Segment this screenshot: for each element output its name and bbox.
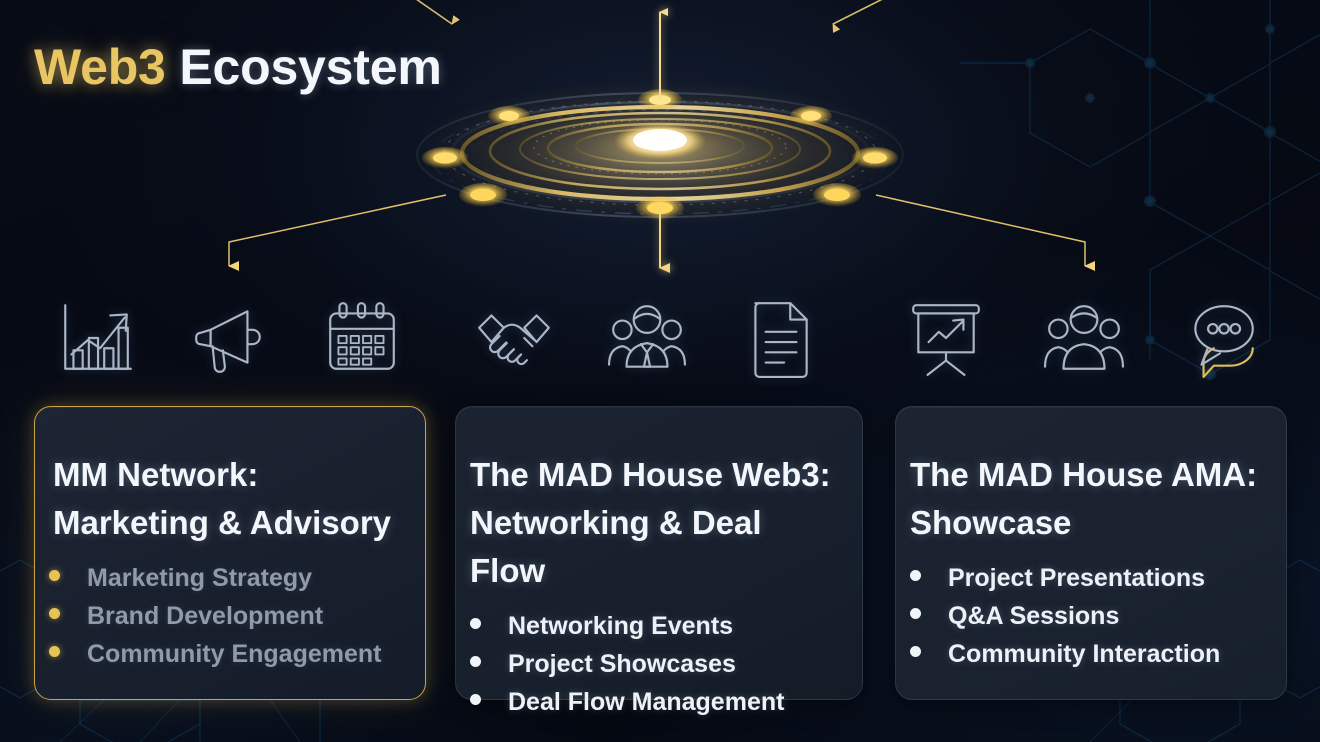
web3-ecosystem-hub bbox=[397, 80, 923, 230]
page-title: Web3 Ecosystem bbox=[34, 38, 442, 96]
list-item: Brand Development bbox=[49, 597, 413, 635]
list-item: Community Interaction bbox=[910, 635, 1274, 673]
connector-incoming-right bbox=[833, 0, 960, 24]
list-item-label: Project Showcases bbox=[508, 645, 736, 683]
list-item: Project Showcases bbox=[470, 645, 850, 683]
page-title-rest: Ecosystem bbox=[166, 39, 442, 95]
bullet-icon bbox=[910, 646, 921, 657]
bullet-icon bbox=[470, 694, 481, 705]
list-item-label: Q&A Sessions bbox=[948, 597, 1119, 635]
page-title-highlight: Web3 bbox=[34, 39, 166, 95]
handshake-icon bbox=[466, 292, 562, 384]
bullet-icon bbox=[470, 656, 481, 667]
calendar-icon bbox=[314, 292, 410, 384]
bullet-icon bbox=[49, 608, 60, 619]
growth-chart-icon bbox=[48, 292, 144, 384]
card-title: MM Network: Marketing & Advisory bbox=[35, 451, 425, 547]
list-item: Q&A Sessions bbox=[910, 597, 1274, 635]
bullet-icon bbox=[910, 570, 921, 581]
list-item: Deal Flow Management bbox=[470, 683, 850, 721]
list-item: Community Engagement bbox=[49, 635, 413, 673]
list-item: Project Presentations bbox=[910, 559, 1274, 597]
list-item-label: Community Interaction bbox=[948, 635, 1220, 673]
icon-group-networking bbox=[466, 292, 828, 384]
list-item-label: Project Presentations bbox=[948, 559, 1205, 597]
card-title: The MAD House AMA: Showcase bbox=[896, 451, 1286, 547]
list-item: Networking Events bbox=[470, 607, 850, 645]
bullet-icon bbox=[470, 618, 481, 629]
card-mad-house-web3[interactable]: The MAD House Web3: Networking & Deal Fl… bbox=[455, 406, 863, 700]
bullet-icon bbox=[910, 608, 921, 619]
icon-group-marketing bbox=[48, 292, 410, 384]
list-item-label: Community Engagement bbox=[87, 635, 381, 673]
business-team-icon bbox=[599, 292, 695, 384]
list-item: Marketing Strategy bbox=[49, 559, 413, 597]
card-feature-list: Networking Events Project Showcases Deal… bbox=[456, 607, 862, 721]
slide-canvas: Web3 Ecosystem bbox=[0, 0, 1320, 742]
bullet-icon bbox=[49, 570, 60, 581]
list-item-label: Brand Development bbox=[87, 597, 323, 635]
icon-group-ama bbox=[898, 292, 1270, 384]
megaphone-icon bbox=[181, 292, 277, 384]
list-item-label: Deal Flow Management bbox=[508, 683, 784, 721]
bullet-icon bbox=[49, 646, 60, 657]
card-feature-list: Marketing Strategy Brand Development Com… bbox=[35, 559, 425, 673]
presentation-board-icon bbox=[898, 292, 994, 384]
card-title: The MAD House Web3: Networking & Deal Fl… bbox=[456, 451, 862, 595]
card-mad-house-ama[interactable]: The MAD House AMA: Showcase Project Pres… bbox=[895, 406, 1287, 700]
list-item-label: Networking Events bbox=[508, 607, 733, 645]
card-mm-network[interactable]: MM Network: Marketing & Advisory Marketi… bbox=[34, 406, 426, 700]
people-group-icon bbox=[1036, 292, 1132, 384]
chat-bubbles-icon bbox=[1174, 292, 1270, 384]
card-feature-list: Project Presentations Q&A Sessions Commu… bbox=[896, 559, 1286, 673]
list-item-label: Marketing Strategy bbox=[87, 559, 312, 597]
document-icon bbox=[732, 292, 828, 384]
connector-incoming-left bbox=[360, 0, 452, 24]
